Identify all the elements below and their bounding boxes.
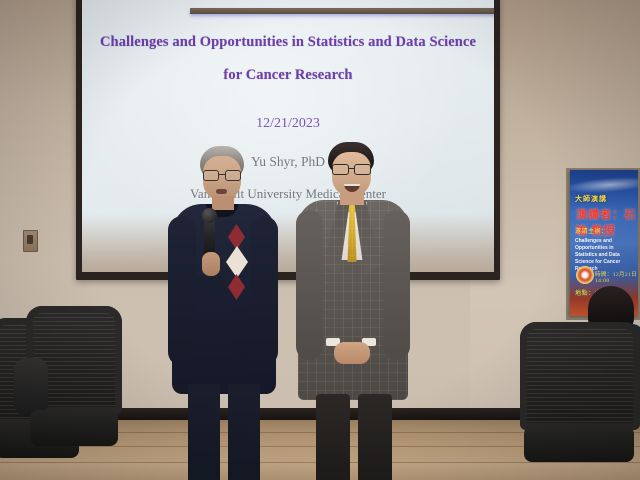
- left-speaker-neck: [212, 196, 234, 210]
- left-speaker-arm-right: [250, 216, 278, 366]
- slide-title-line1: Challenges and Opportunities in Statisti…: [100, 34, 476, 50]
- left-speaker-hand: [202, 252, 220, 276]
- slide-presenter: Yu Shyr, PhD: [82, 154, 494, 170]
- slide-top-bar: [190, 8, 494, 14]
- office-chair[interactable]: [26, 306, 122, 480]
- projection-screen: Challenges and Opportunities in Statisti…: [82, 0, 494, 272]
- left-speaker-legs: [186, 384, 262, 480]
- slide-affiliation: Vanderbilt University Medical Center: [82, 186, 494, 202]
- right-speaker-neck: [340, 192, 364, 205]
- right-speaker-hands: [334, 342, 370, 364]
- right-speaker-arm-left: [296, 210, 323, 360]
- lecture-photo: Challenges and Opportunities in Statisti…: [0, 0, 640, 480]
- poster-host-line: 邀請主辦：: [575, 226, 608, 235]
- glasses-icon: [332, 164, 371, 173]
- slide-title-line2: for Cancer Research: [82, 67, 494, 84]
- microphone-icon: [202, 208, 217, 223]
- poster-heading: 大師演講: [575, 194, 607, 204]
- right-speaker-arm-right: [383, 210, 410, 360]
- screen-shadow: [82, 214, 494, 272]
- right-speaker: [296, 142, 410, 480]
- light-switch[interactable]: [23, 230, 38, 252]
- poster-wave-graphic: [570, 175, 638, 195]
- right-speaker-legs: [314, 394, 394, 480]
- slide-title: Challenges and Opportunities in Statisti…: [82, 34, 494, 84]
- glasses-icon: [203, 170, 241, 179]
- office-chair[interactable]: [520, 322, 640, 480]
- poster-logo-icon: [576, 266, 594, 284]
- left-speaker: [166, 146, 282, 480]
- poster-time-line: 時間：12月21日 14:00: [595, 270, 638, 284]
- left-speaker-mouth: [216, 189, 227, 194]
- slide-date: 12/21/2023: [82, 116, 494, 132]
